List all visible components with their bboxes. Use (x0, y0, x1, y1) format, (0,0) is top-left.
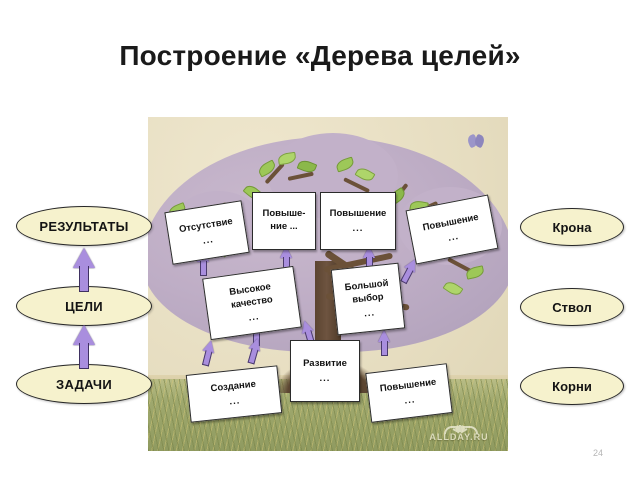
label-trunk[interactable]: Ствол (520, 288, 624, 326)
arrow-up-icon (378, 330, 391, 356)
card-dots: ... (248, 310, 261, 324)
card-big-choice[interactable]: Большой выбор ... (331, 263, 406, 336)
card-dots: ... (202, 233, 215, 248)
label-text: ЦЕЛИ (65, 299, 103, 314)
label-roots[interactable]: Корни (520, 367, 624, 405)
card-dots: ... (404, 393, 416, 407)
label-crown[interactable]: Крона (520, 208, 624, 246)
watermark: ALLDAY.RU (416, 415, 502, 445)
slide: Построение «Дерева целей» (0, 0, 640, 480)
label-text: Корни (552, 379, 592, 394)
card-dots: ... (229, 394, 241, 408)
label-text: Ствол (552, 300, 591, 315)
card-increase-4[interactable]: Повышение ... (365, 363, 452, 423)
page-number: 24 (588, 448, 608, 458)
label-text: Крона (553, 220, 592, 235)
card-line2: выбор (352, 290, 385, 306)
sunrise-icon (416, 415, 502, 432)
card-development[interactable]: Развитие ... (290, 340, 360, 402)
arrow-up-large-icon (73, 248, 95, 292)
card-high-quality[interactable]: Высокое качество ... (202, 266, 302, 340)
card-line1: Отсутствие (178, 214, 233, 235)
label-goals[interactable]: ЦЕЛИ (16, 286, 152, 326)
label-tasks[interactable]: ЗАДАЧИ (16, 364, 152, 404)
page-title: Построение «Дерева целей» (0, 40, 640, 72)
card-line1: Повыше- (263, 207, 306, 220)
card-line1: Повышение (330, 207, 387, 220)
card-increase-1[interactable]: Повыше- ние ... (252, 192, 316, 250)
label-text: ЗАДАЧИ (56, 377, 112, 392)
label-text: РЕЗУЛЬТАТЫ (39, 219, 128, 234)
card-line1: Развитие (303, 357, 347, 370)
card-line1: Создание (210, 378, 257, 396)
card-dots: ... (320, 372, 331, 385)
card-dots: ... (353, 222, 364, 235)
card-creation[interactable]: Создание ... (186, 365, 283, 422)
card-line1: Повышение (379, 376, 437, 396)
card-dots: ... (447, 229, 460, 244)
card-dots: ... (363, 306, 375, 320)
card-line2: ние ... (270, 220, 297, 233)
arrow-up-large-icon (73, 325, 95, 369)
card-increase-2[interactable]: Повышение ... (320, 192, 396, 250)
label-results[interactable]: РЕЗУЛЬТАТЫ (16, 206, 152, 246)
